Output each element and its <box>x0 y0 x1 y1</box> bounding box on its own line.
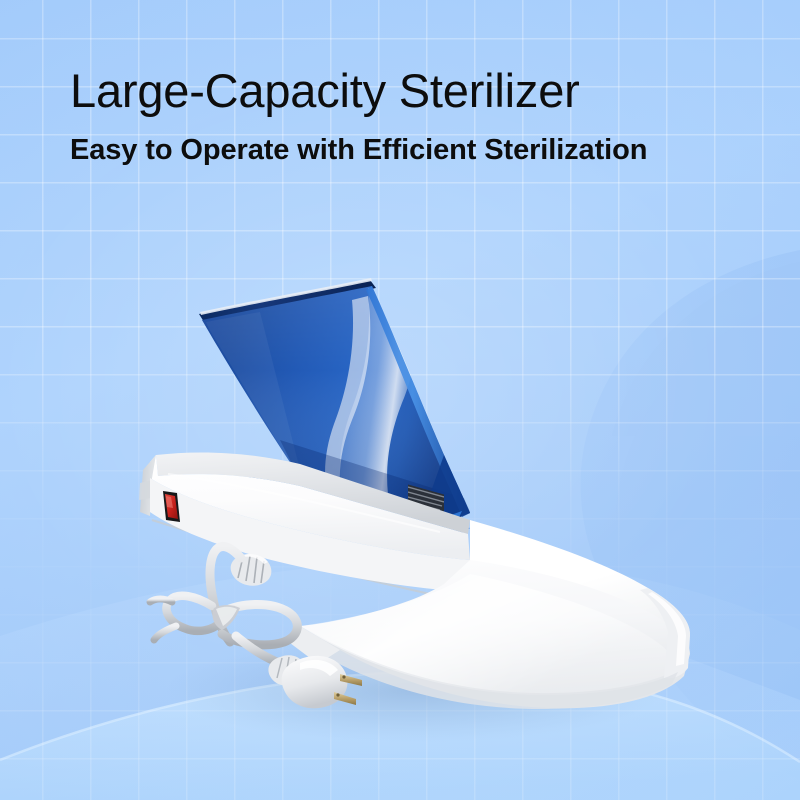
product-banner: Large-Capacity Sterilizer Easy to Operat… <box>0 0 800 800</box>
plug-pin-lower-dot <box>336 693 339 696</box>
cord-tail-upper-left <box>150 599 172 602</box>
headline-block: Large-Capacity Sterilizer Easy to Operat… <box>70 62 770 168</box>
plug-pin-upper-dot <box>342 675 345 678</box>
page-title: Large-Capacity Sterilizer <box>70 62 770 120</box>
page-subtitle: Easy to Operate with Efficient Steriliza… <box>70 120 770 168</box>
cord-tail-lower-left <box>154 626 176 640</box>
